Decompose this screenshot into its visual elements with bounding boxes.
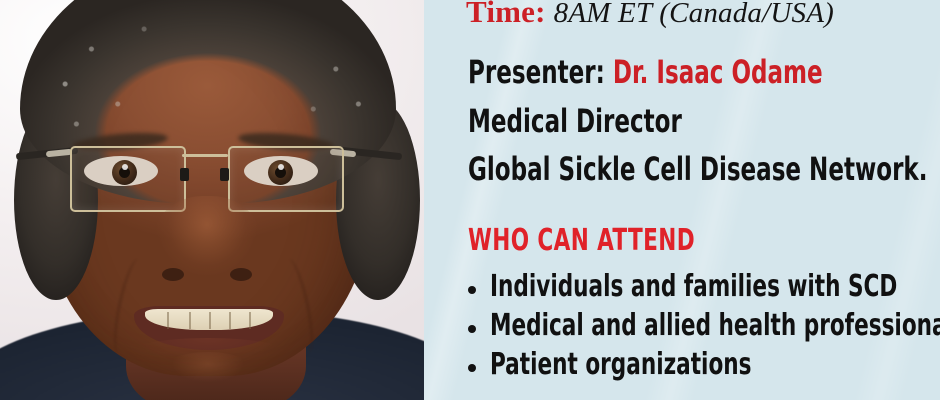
list-item-label: Patient organizations: [490, 350, 752, 380]
nostril-left: [162, 268, 184, 281]
time-label: Time:: [466, 0, 546, 29]
bullet-dot-icon: [468, 364, 476, 372]
glasses-hinge-right: [220, 168, 229, 181]
glasses-bridge: [182, 154, 228, 157]
nostril-right: [230, 268, 252, 281]
list-item-label: Medical and allied health professionals: [490, 311, 940, 341]
glasses-lens-left: [70, 146, 186, 212]
presenter-row: Presenter: Dr. Isaac Odame: [468, 56, 823, 88]
bullet-dot-icon: [468, 286, 476, 294]
presenter-organization: Global Sickle Cell Disease Network.: [468, 153, 927, 185]
info-panel: Time:8AM ET (Canada/USA) Presenter: Dr. …: [424, 0, 940, 400]
webinar-promo-banner: Time:8AM ET (Canada/USA) Presenter: Dr. …: [0, 0, 940, 400]
chin: [160, 352, 256, 392]
time-value: 8AM ET (Canada/USA): [554, 0, 834, 29]
list-item-label: Individuals and families with SCD: [490, 272, 897, 302]
bullet-dot-icon: [468, 325, 476, 333]
presenter-photo: [0, 0, 424, 400]
teeth: [145, 309, 273, 330]
glasses-lens-right: [228, 146, 344, 212]
glasses-hinge-left: [180, 168, 189, 181]
who-can-attend-heading: WHO CAN ATTEND: [468, 226, 695, 256]
presenter-role: Medical Director: [468, 105, 682, 137]
presenter-name: Dr. Isaac Odame: [613, 53, 823, 91]
presenter-label: Presenter:: [468, 53, 605, 91]
time-row: Time:8AM ET (Canada/USA): [466, 0, 834, 30]
